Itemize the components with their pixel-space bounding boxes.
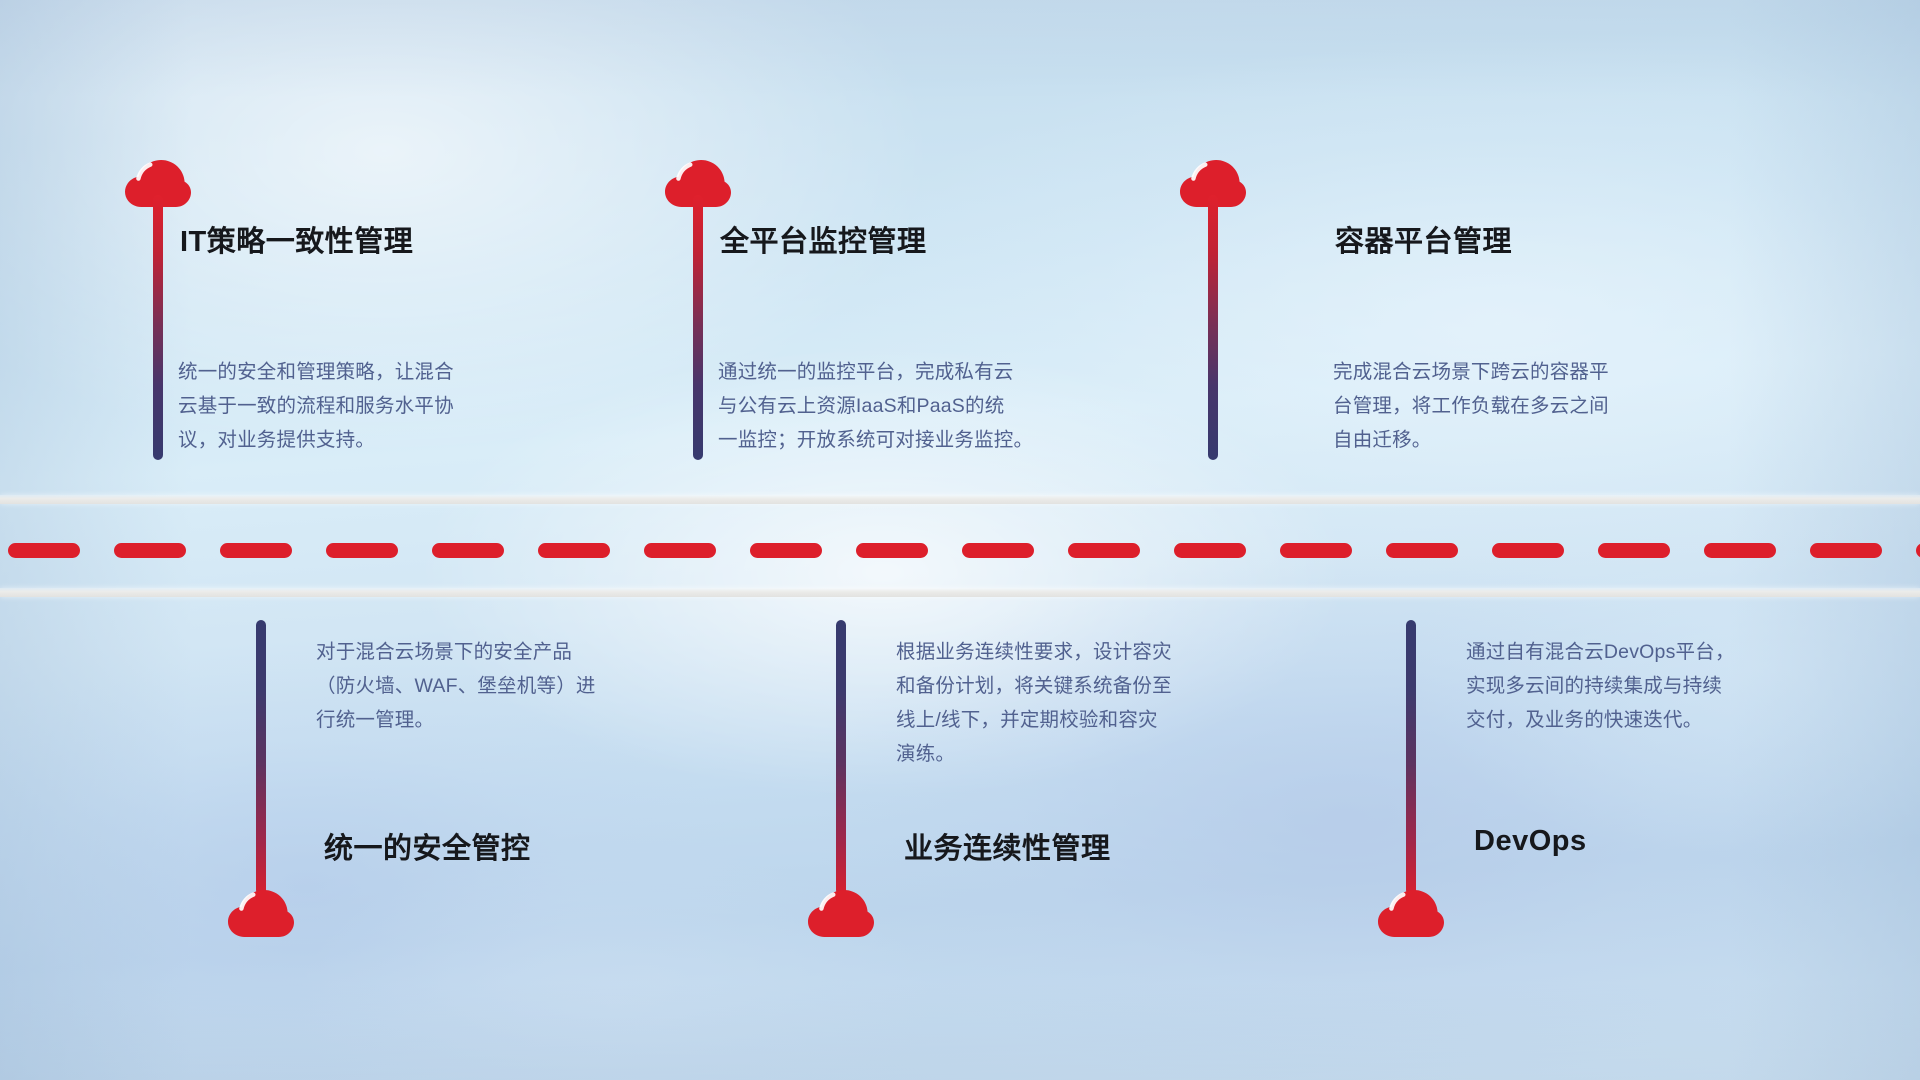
column-body-text: 通过统一的监控平台，完成私有云 与公有云上资源IaaS和PaaS的统 一监控；开…	[718, 355, 1108, 457]
column-body-text: 对于混合云场景下的安全产品 （防火墙、WAF、堡垒机等）进 行统一管理。	[316, 635, 736, 737]
road-dash	[1174, 543, 1246, 558]
column-title: IT策略一致性管理	[180, 218, 413, 260]
road-dash	[1068, 543, 1140, 558]
road-dash	[1916, 543, 1920, 558]
column-body-text: 通过自有混合云DevOps平台， 实现多云间的持续集成与持续 交付，及业务的快速…	[1466, 635, 1866, 737]
road-edge-bottom	[0, 588, 1920, 597]
road-dash	[220, 543, 292, 558]
column-title: 业务连续性管理	[904, 825, 1111, 867]
road-dash	[1280, 543, 1352, 558]
cloud-icon	[228, 890, 294, 940]
connector-pole	[836, 620, 846, 895]
road-dash	[1810, 543, 1882, 558]
road-dash	[856, 543, 928, 558]
road-dash	[1492, 543, 1564, 558]
column-body-text: 统一的安全和管理策略，让混合 云基于一致的流程和服务水平协 议，对业务提供支持。	[178, 355, 538, 457]
column-title: DevOps	[1474, 825, 1587, 858]
road-dash	[1386, 543, 1458, 558]
road-dash	[114, 543, 186, 558]
road-dash	[962, 543, 1034, 558]
road-dash	[326, 543, 398, 558]
column-body-text: 完成混合云场景下跨云的容器平 台管理，将工作负载在多云之间 自由迁移。	[1333, 355, 1693, 457]
connector-pole	[1406, 620, 1416, 895]
road-dash	[432, 543, 504, 558]
road-edge-top	[0, 495, 1920, 504]
road-dash	[1704, 543, 1776, 558]
cloud-icon	[808, 890, 874, 940]
column-body-text: 根据业务连续性要求，设计容灾 和备份计划，将关键系统备份至 线上/线下，并定期校…	[896, 635, 1316, 771]
road-dash	[750, 543, 822, 558]
road-dash	[1598, 543, 1670, 558]
road-dash	[644, 543, 716, 558]
connector-pole	[256, 620, 266, 895]
connector-pole	[153, 195, 163, 460]
connector-pole	[693, 195, 703, 460]
column-title: 全平台监控管理	[720, 218, 927, 260]
connector-pole	[1208, 195, 1218, 460]
road-center-dashes	[0, 542, 1920, 558]
infographic-canvas: IT策略一致性管理 统一的安全和管理策略，让混合 云基于一致的流程和服务水平协 …	[0, 0, 1920, 1080]
cloud-icon	[1378, 890, 1444, 940]
column-title: 容器平台管理	[1335, 218, 1512, 260]
column-title: 统一的安全管控	[324, 825, 531, 867]
road-dash	[538, 543, 610, 558]
road-dash	[8, 543, 80, 558]
